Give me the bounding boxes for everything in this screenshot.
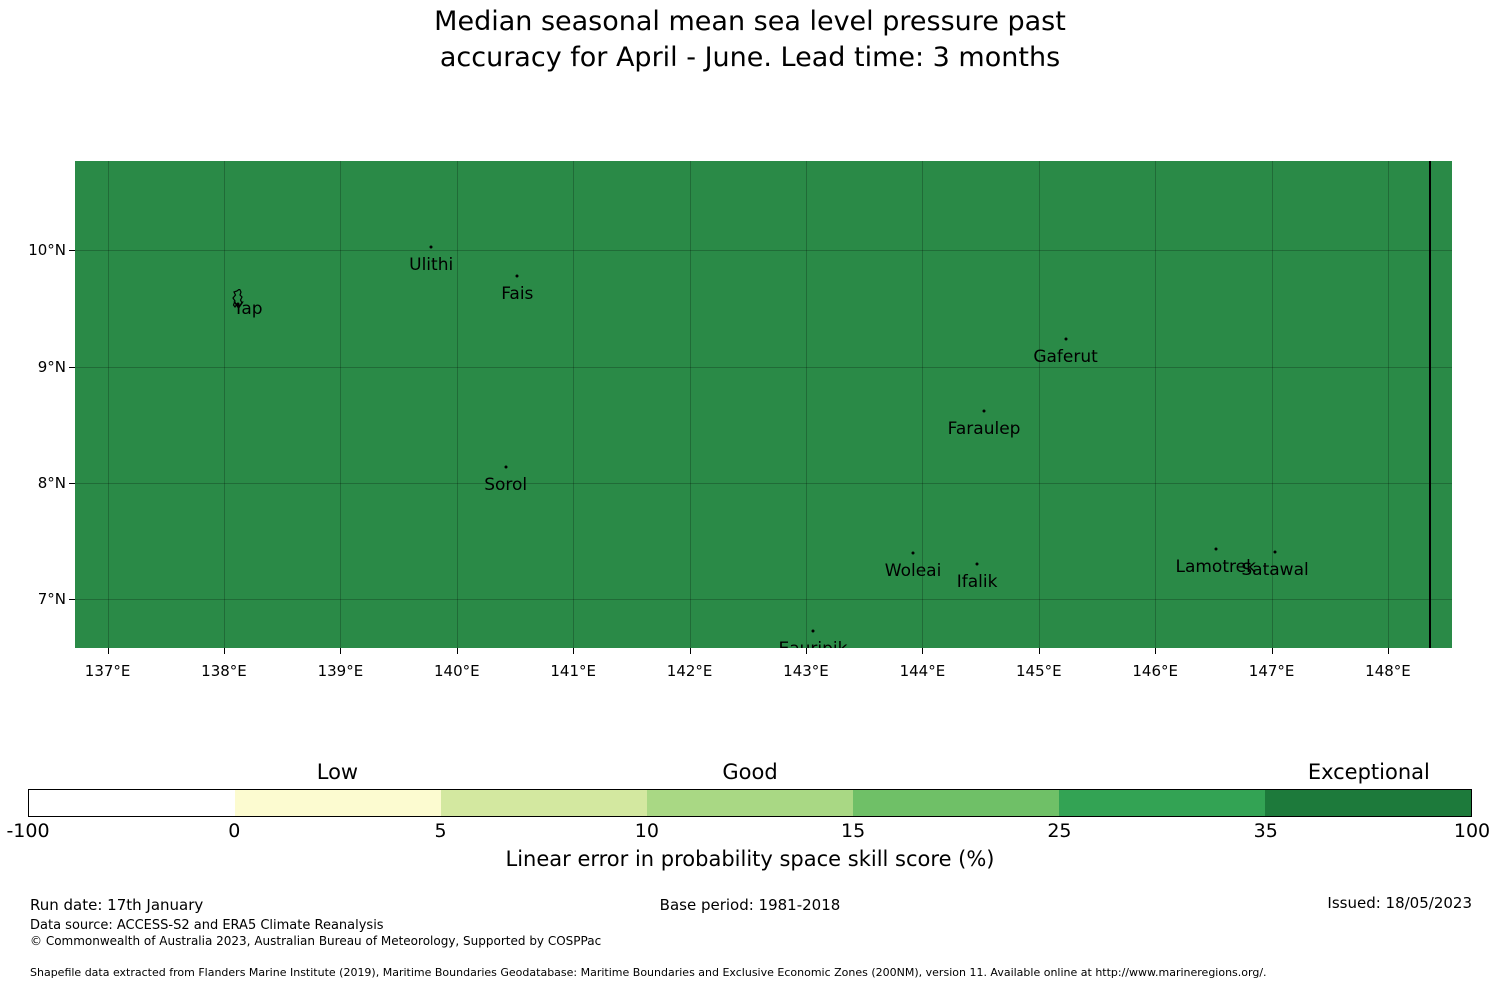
y-axis-tick-mark — [69, 367, 75, 368]
colorbar-segment-6 — [1265, 790, 1471, 816]
colorbar-tick-label: 10 — [635, 820, 659, 842]
gridline-vertical — [457, 161, 458, 648]
colorbar — [28, 789, 1472, 817]
colorbar-segment-5 — [1059, 790, 1265, 816]
copyright-text: © Commonwealth of Australia 2023, Austra… — [30, 934, 601, 948]
y-axis-tick-mark — [69, 483, 75, 484]
gridline-vertical — [108, 161, 109, 648]
island-label-ifalik: Ifalik — [957, 572, 998, 592]
x-axis-tick-mark — [922, 648, 923, 654]
x-axis-tick-mark — [690, 648, 691, 654]
island-label-fais: Fais — [501, 284, 533, 304]
colorbar-category-label: Low — [317, 760, 358, 784]
shapefile-note-text: Shapefile data extracted from Flanders M… — [30, 966, 1267, 979]
x-axis-tick-label: 142°E — [667, 662, 713, 680]
x-axis-tick-mark — [340, 648, 341, 654]
colorbar-category-label: Good — [722, 760, 777, 784]
island-label-eauripik: Eauripik — [778, 639, 847, 648]
data-source-text: Data source: ACCESS-S2 and ERA5 Climate … — [30, 918, 384, 933]
y-axis-tick-mark — [69, 250, 75, 251]
colorbar-segment-1 — [235, 790, 441, 816]
gridline-horizontal — [75, 250, 1452, 251]
gridline-vertical — [1039, 161, 1040, 648]
island-marker — [811, 629, 814, 632]
colorbar-tick-label: 0 — [228, 820, 240, 842]
island-marker — [1214, 548, 1217, 551]
island-label-sorol: Sorol — [484, 475, 527, 495]
x-axis-tick-label: 143°E — [783, 662, 829, 680]
colorbar-segment-2 — [441, 790, 647, 816]
x-axis-tick-label: 146°E — [1132, 662, 1178, 680]
colorbar-tick-label: 15 — [841, 820, 865, 842]
colorbar-tick-label: 5 — [435, 820, 447, 842]
x-axis-tick-mark — [1039, 648, 1040, 654]
colorbar-tick-label: 35 — [1254, 820, 1278, 842]
x-axis-tick-mark — [1272, 648, 1273, 654]
x-axis-tick-label: 145°E — [1016, 662, 1062, 680]
x-axis-tick-label: 147°E — [1249, 662, 1295, 680]
x-axis-tick-label: 144°E — [900, 662, 946, 680]
colorbar-tick-label: -100 — [6, 820, 49, 842]
island-marker — [1064, 337, 1067, 340]
colorbar-axis-label: Linear error in probability space skill … — [0, 847, 1500, 871]
colorbar-tick-label: 25 — [1047, 820, 1071, 842]
island-label-satawal: Satawal — [1241, 560, 1308, 580]
island-label-woleai: Woleai — [885, 561, 942, 581]
gridline-vertical — [340, 161, 341, 648]
island-marker — [504, 465, 507, 468]
page-title: Median seasonal mean sea level pressure … — [0, 4, 1500, 76]
gridline-vertical — [806, 161, 807, 648]
gridline-vertical — [690, 161, 691, 648]
x-axis-tick-label: 137°E — [85, 662, 131, 680]
island-marker — [983, 409, 986, 412]
gridline-horizontal — [75, 599, 1452, 600]
x-axis-tick-mark — [1155, 648, 1156, 654]
x-axis-tick-mark — [224, 648, 225, 654]
island-marker — [1274, 550, 1277, 553]
gridline-vertical — [1155, 161, 1156, 648]
island-marker — [430, 246, 433, 249]
y-axis-tick-label: 8°N — [38, 474, 66, 492]
issued-date-text: Issued: 18/05/2023 — [1327, 894, 1472, 912]
x-axis-tick-label: 139°E — [318, 662, 364, 680]
y-axis-tick-label: 10°N — [28, 241, 66, 259]
colorbar-segment-4 — [853, 790, 1059, 816]
island-label-faraulep: Faraulep — [948, 419, 1021, 439]
colorbar-category-label: Exceptional — [1308, 760, 1430, 784]
y-axis-tick-label: 7°N — [38, 590, 66, 608]
map-plot-area: YapUlithiFaisSorolGaferutFaraulepWoleaiI… — [75, 161, 1452, 648]
island-marker — [912, 551, 915, 554]
eez-boundary-line — [1429, 161, 1431, 648]
colorbar-tick-label: 100 — [1454, 820, 1490, 842]
gridline-vertical — [573, 161, 574, 648]
island-marker — [976, 563, 979, 566]
gridline-horizontal — [75, 367, 1452, 368]
island-label-gaferut: Gaferut — [1033, 347, 1097, 367]
y-axis-tick-mark — [69, 599, 75, 600]
gridline-horizontal — [75, 483, 1452, 484]
gridline-vertical — [1388, 161, 1389, 648]
x-axis-tick-mark — [1388, 648, 1389, 654]
island-label-ulithi: Ulithi — [409, 255, 453, 275]
x-axis-tick-label: 140°E — [434, 662, 480, 680]
x-axis-tick-label: 148°E — [1365, 662, 1411, 680]
x-axis-tick-mark — [108, 648, 109, 654]
x-axis-tick-mark — [806, 648, 807, 654]
base-period-text: Base period: 1981-2018 — [0, 896, 1500, 914]
x-axis-tick-mark — [573, 648, 574, 654]
x-axis-tick-label: 141°E — [550, 662, 596, 680]
colorbar-segment-0 — [29, 790, 235, 816]
y-axis-tick-label: 9°N — [38, 358, 66, 376]
island-marker — [516, 275, 519, 278]
x-axis-tick-label: 138°E — [201, 662, 247, 680]
x-axis-tick-mark — [457, 648, 458, 654]
island-label-yap: Yap — [233, 299, 262, 319]
gridline-vertical — [224, 161, 225, 648]
colorbar-segment-3 — [647, 790, 853, 816]
